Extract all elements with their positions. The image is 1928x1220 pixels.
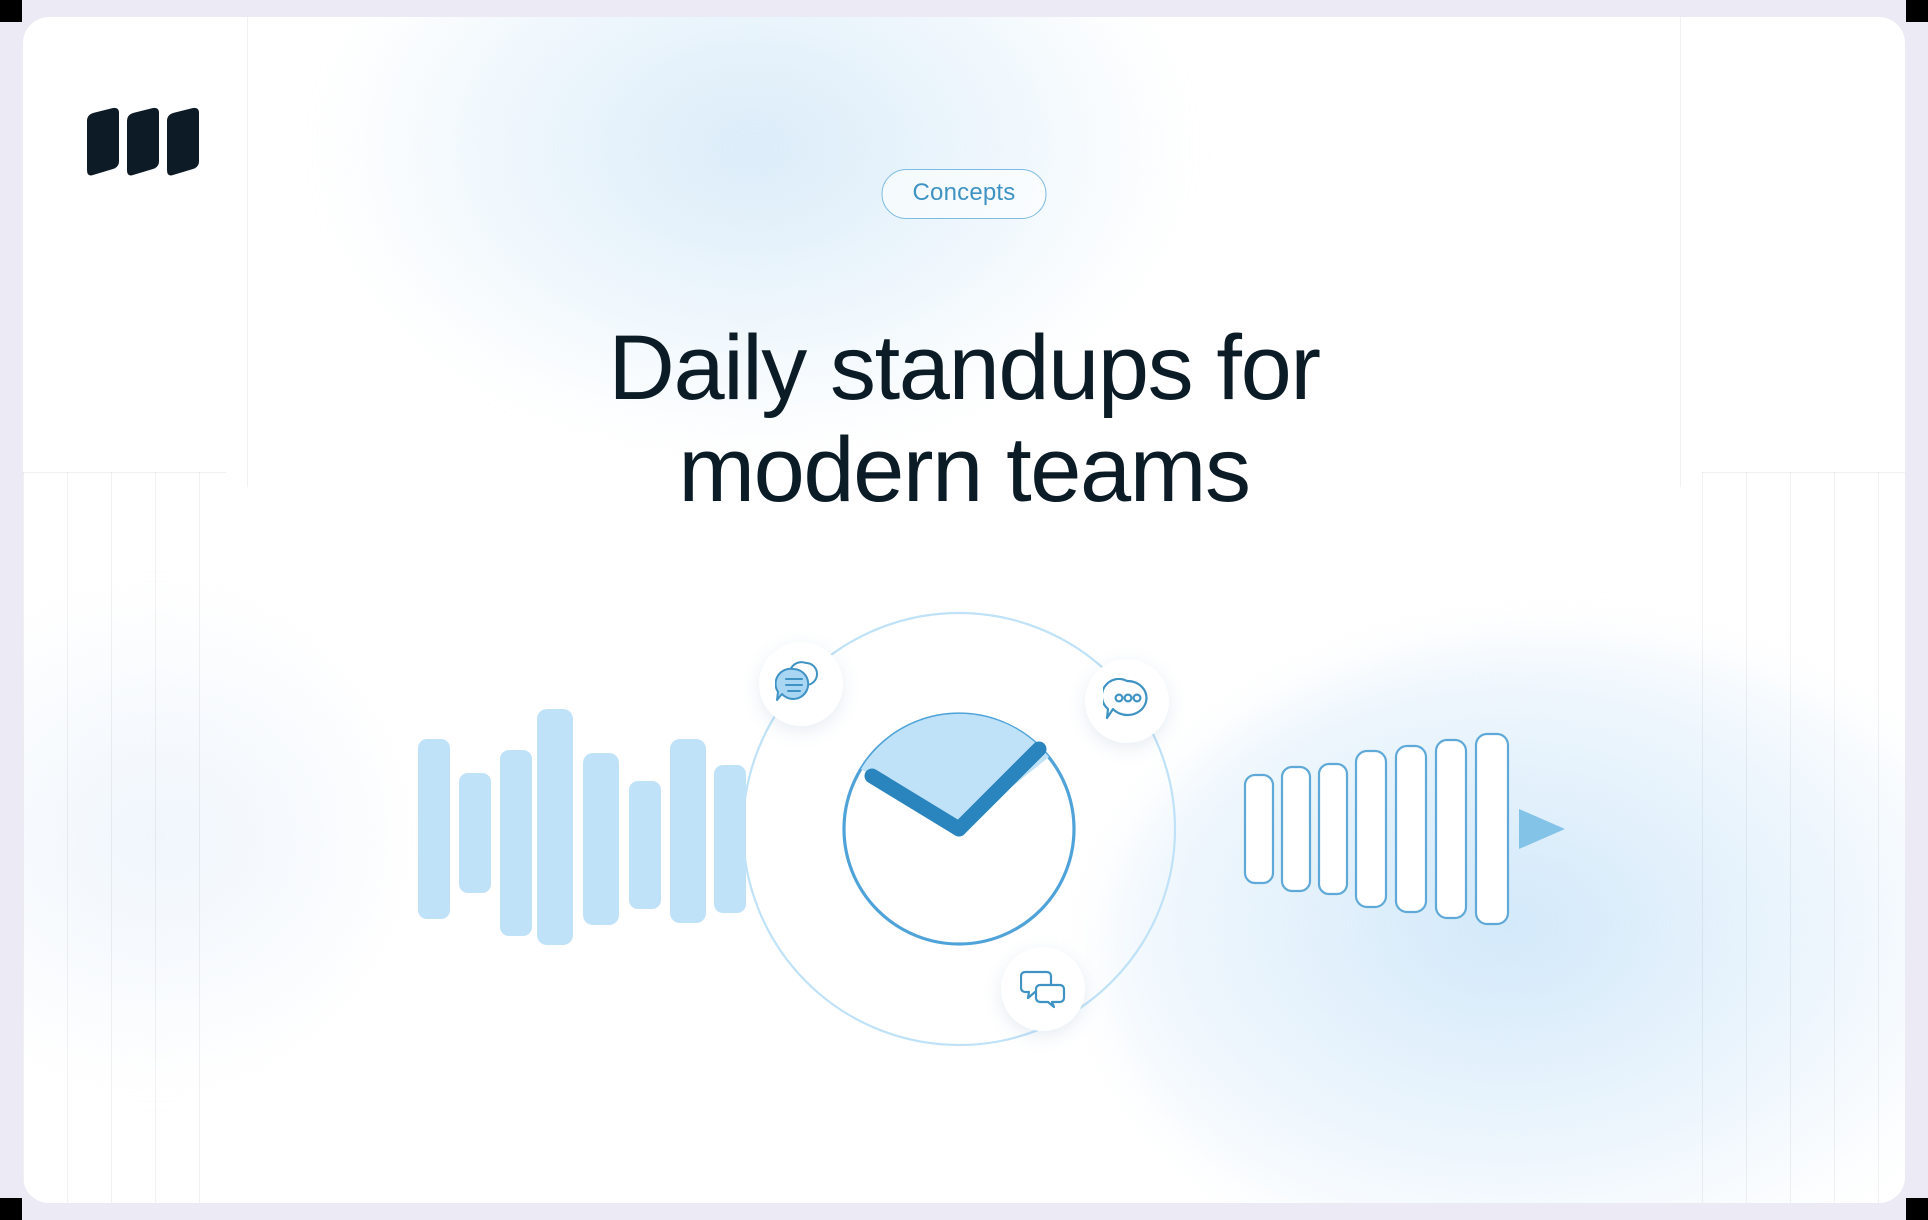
chat-bubbles-double-glyph (1020, 968, 1066, 1010)
registration-mark-bottom-right (1906, 1198, 1928, 1220)
chat-bubbles-double-icon[interactable] (1001, 947, 1085, 1031)
registration-mark-top-right (1906, 0, 1928, 22)
hero-card: Concepts Daily standups for modern teams (23, 17, 1905, 1203)
stacked-parallelograms-logo[interactable] (85, 107, 203, 177)
chat-bubble-lines-icon[interactable] (759, 642, 843, 726)
chat-bubble-lines-glyph (775, 660, 827, 708)
clock-face (844, 714, 1074, 944)
registration-mark-top-left (0, 0, 22, 22)
chat-bubble-dots-glyph (1103, 678, 1151, 724)
category-badge[interactable]: Concepts (882, 169, 1047, 219)
page-title: Daily standups for modern teams (23, 317, 1905, 521)
standup-timeline-illustration (23, 577, 1905, 1097)
page-frame: Concepts Daily standups for modern teams (0, 0, 1928, 1220)
timeline-arrowhead (1519, 809, 1565, 849)
registration-mark-bottom-left (0, 1198, 22, 1220)
chat-bubble-dots-icon[interactable] (1085, 659, 1169, 743)
